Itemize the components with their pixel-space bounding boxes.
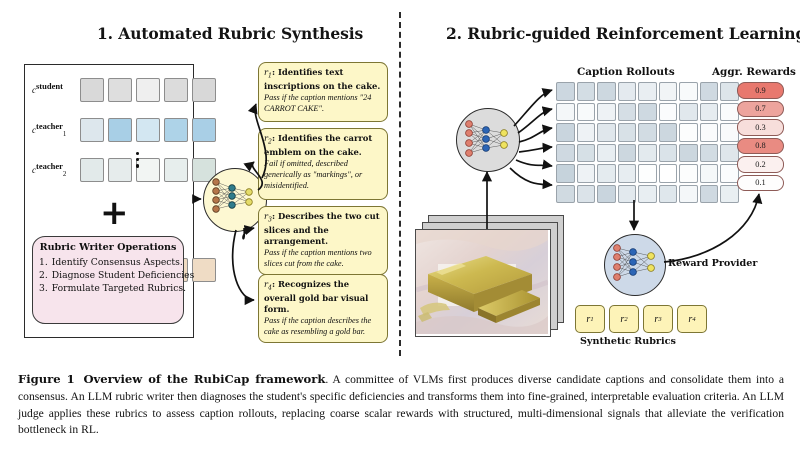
rollout-cell [618,144,637,163]
reward-provider-network-icon [604,234,666,296]
caption-rollouts-header: Caption Rollouts [577,66,675,78]
matrix-cell [108,78,132,102]
rollout-cell [556,82,575,101]
synthetic-rubric-chips: r1r2r3r4 [575,305,707,333]
rollout-cell [618,123,637,142]
rollout-cell [597,103,616,122]
rollout-cell [577,144,596,163]
rubric-card-body: Pass if the caption mentions "24 CARROT … [264,93,382,115]
rollout-cell [679,185,698,204]
figure-bold-lead: Overview of the RubiCap framework [83,372,325,386]
plus-symbol: + [100,196,129,230]
matrix-cell [164,78,188,102]
left-panel-title: 1. Automated Rubric Synthesis [97,24,363,43]
rubric-writer-title: Rubric Writer Operations [39,242,177,253]
matrix-row [80,118,216,142]
rollout-cell [618,82,637,101]
rubric-writer-item-number: 3. [39,282,48,295]
rollout-cell [577,103,596,122]
rubric-writer-item-text: Identify Consensus Aspects. [52,256,183,269]
rollout-cell [720,185,739,204]
rubric-card-head: r2: Identifies the carrot emblem on the … [264,133,382,158]
rollout-cell [700,123,719,142]
rollout-cell [556,103,575,122]
rollout-row [556,82,739,101]
synthetic-rubric-chip: r1 [575,305,605,333]
rubric-writer-operations-box: Rubric Writer Operations 1.Identify Cons… [32,236,184,324]
rollout-cell [720,82,739,101]
rubric-card-body: Pass if the caption describes the cake a… [264,316,382,338]
rollout-cell [597,185,616,204]
rubric-card: r2: Identifies the carrot emblem on the … [258,128,388,200]
synthetic-rubric-chip: r2 [609,305,639,333]
rollout-cell [638,103,657,122]
rollout-cell [720,144,739,163]
matrix-cell [164,118,188,142]
matrix-cell [164,158,188,182]
rollout-row [556,185,739,204]
rubric-writer-item-number: 2. [39,269,48,282]
rubric-card-head: r1: Identifies text inscriptions on the … [264,67,382,92]
matrix-cell [136,118,160,142]
rollout-cell [700,103,719,122]
matrix-cell [80,78,104,102]
aggr-rewards-header: Aggr. Rewards [712,66,796,78]
reward-pill: 0.7 [737,101,784,118]
rollout-cell [659,103,678,122]
synthetic-rubrics-label: Synthetic Rubrics [580,336,676,347]
matrix-cell [80,118,104,142]
rollout-cell [618,103,637,122]
rubric-writer-list: 1.Identify Consensus Aspects.2.Diagnose … [39,256,177,295]
rollout-cell [659,164,678,183]
rollout-cell [556,185,575,204]
rubric-writer-item-text: Diagnose Student Deficiencies [52,269,195,282]
rubric-writer-item-text: Formulate Targeted Rubrics. [52,282,186,295]
rollout-cell [577,185,596,204]
reward-pill: 0.3 [737,119,784,136]
rubric-card-body: Pass if the caption mentions two slices … [264,248,382,270]
matrix-cell [80,158,104,182]
aggr-rewards-column: 0.90.70.30.80.20.1 [737,82,784,193]
rollout-cell [618,185,637,204]
reward-pill: 0.1 [737,175,784,192]
matrix-cell [192,258,216,282]
rubric-card-head: r4: Recognizes the overall gold bar visu… [264,279,382,315]
rollout-cell [679,164,698,183]
figure-label: Figure 1 [18,372,75,386]
rollout-cell [597,164,616,183]
rubric-card: r1: Identifies text inscriptions on the … [258,62,388,122]
matrix-cell [192,118,216,142]
right-panel-title: 2. Rubric-guided Reinforcement Learning [446,24,800,43]
rollout-row [556,123,739,142]
matrix-row-label: cteacher2 [32,161,66,178]
rubric-writer-item: 3.Formulate Targeted Rubrics. [39,282,177,295]
matrix-row-label: cteacher1 [32,121,66,138]
rubric-card-head: r3: Describes the two cut slices and the… [264,211,382,247]
rollout-cell [720,123,739,142]
figure-caption: Figure 1 Overview of the RubiCap framewo… [18,371,784,439]
rollout-cell [700,82,719,101]
rollout-cell [679,144,698,163]
rollout-cell [556,144,575,163]
reward-provider-label: Reward Provider [668,258,757,269]
rollout-cell [597,82,616,101]
policy-network-icon [456,108,520,172]
rollout-cell [638,185,657,204]
matrix-row-label: cstudent [32,81,63,95]
rollout-row [556,144,739,163]
rollout-cell [659,123,678,142]
rollout-cell [720,164,739,183]
rollout-cell [577,123,596,142]
gold-bar-cake-image [415,229,551,337]
rollout-cell [556,164,575,183]
rollout-cell [556,123,575,142]
rollout-row [556,103,739,122]
rollout-row [556,164,739,183]
rollout-cell [638,164,657,183]
rollout-cell [597,123,616,142]
rollout-cell [638,144,657,163]
matrix-cell [136,78,160,102]
rollout-cell [638,82,657,101]
matrix-cell [108,158,132,182]
rubric-writer-item: 1.Identify Consensus Aspects. [39,256,177,269]
matrix-cell [192,78,216,102]
synthetic-rubric-chip: r3 [643,305,673,333]
rubric-writer-item: 2.Diagnose Student Deficiencies [39,269,177,282]
rollout-cell [659,185,678,204]
rollout-cell [700,144,719,163]
rollout-cell [659,144,678,163]
reward-pill: 0.9 [737,82,784,99]
rollout-cell [700,164,719,183]
rollout-cell [700,185,719,204]
rollout-cell [577,164,596,183]
caption-rollouts-grid [556,82,739,205]
reward-pill: 0.8 [737,138,784,155]
rollout-cell [577,82,596,101]
matrix-cell [136,158,160,182]
rollout-cell [679,82,698,101]
synthetic-rubric-chip: r4 [677,305,707,333]
rollout-cell [659,82,678,101]
matrix-row [80,78,216,102]
rollout-cell [597,144,616,163]
rubric-card-body: Fail if omitted, described generically a… [264,159,382,191]
rubric-card: r3: Describes the two cut slices and the… [258,206,388,275]
reward-pill: 0.2 [737,156,784,173]
vertical-ellipsis [136,152,139,168]
rollout-cell [618,164,637,183]
rollout-cell [638,123,657,142]
matrix-row [80,158,216,182]
rubric-writer-item-number: 1. [39,256,48,269]
panel-divider [399,12,401,356]
rollout-cell [679,123,698,142]
matrix-cell [108,118,132,142]
rollout-cell [679,103,698,122]
rollout-cell [720,103,739,122]
rubric-card: r4: Recognizes the overall gold bar visu… [258,274,388,343]
